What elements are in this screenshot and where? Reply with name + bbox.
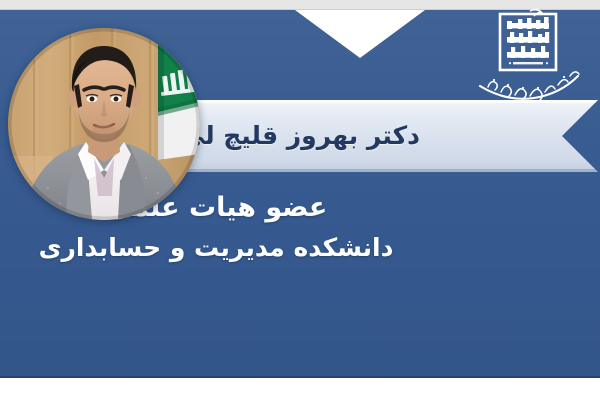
shahid-beheshti-university-logo-icon (474, 8, 586, 104)
faculty-profile-card: دکتر بهروز قلیچ لی عضو هیات علمی دانشکده… (0, 0, 600, 400)
ribbon-top-highlight (150, 100, 598, 103)
faculty-member-portrait-photo (8, 28, 200, 220)
ribbon-bottom-shade (150, 169, 598, 172)
name-ribbon: دکتر بهروز قلیچ لی (150, 100, 598, 172)
bottom-edge-strip (0, 378, 600, 400)
department-name: دانشکده مدیریت و حسابداری (0, 228, 432, 268)
portrait-artwork (8, 28, 200, 220)
faculty-name: دکتر بهروز قلیچ لی (180, 121, 420, 150)
